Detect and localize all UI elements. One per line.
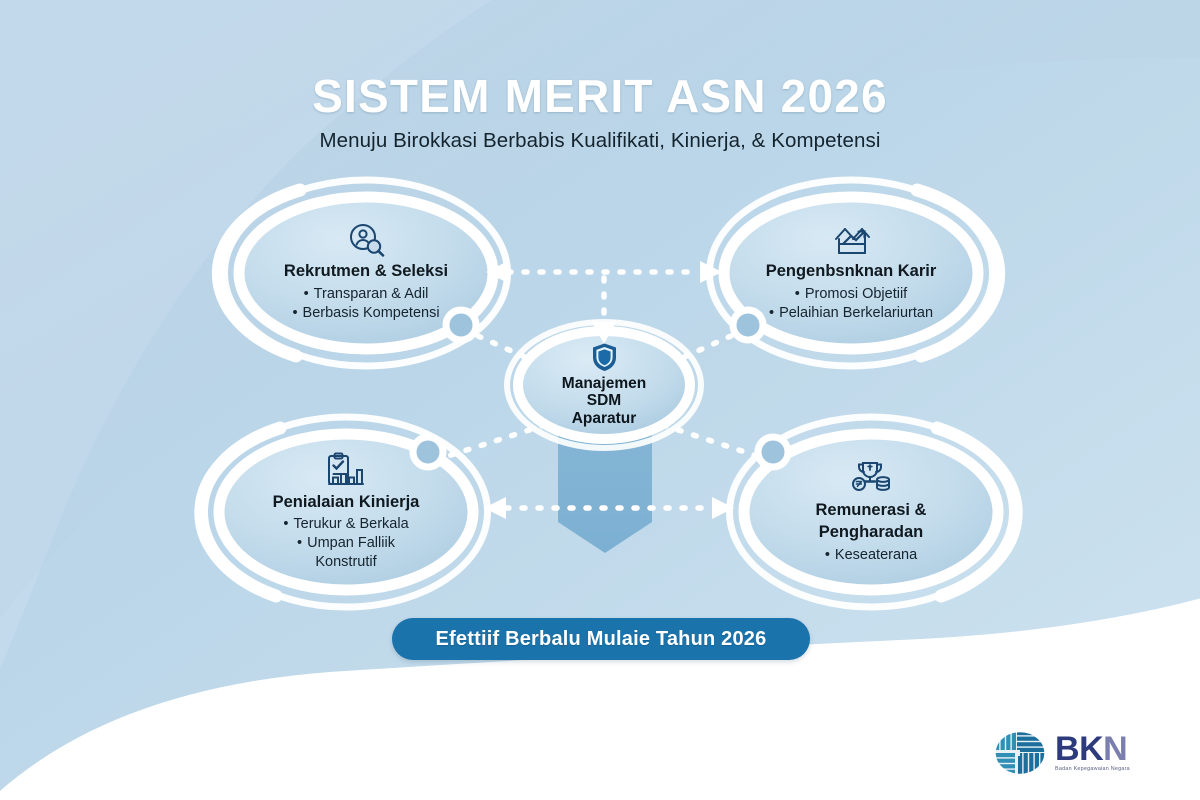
bkn-wordmark: BKN [1055, 733, 1130, 765]
career-growth-icon [831, 223, 871, 257]
clipboard-chart-icon [326, 452, 366, 488]
node-bullet: Promosi Objetiif [769, 285, 933, 304]
node-bullets: Promosi Objetiif Pelaihian Berkelariurta… [769, 285, 933, 323]
node-bullet: Pelaihian Berkelariurtan [769, 304, 933, 323]
node-bullet: Umpan Falliik [283, 534, 408, 553]
banner-label: Efettiif Berbalu Mulaie Tahun 2026 [436, 628, 767, 651]
node-bullet: Transparan & Adil [292, 285, 439, 304]
page-subtitle: Menuju Birokkasi Berbabis Kualifikati, K… [0, 129, 1200, 153]
page-title: SISTEM MERIT ASN 2026 [0, 72, 1200, 120]
node-penilaian-kinerja[interactable]: Penialaian Kinierja Terukur & Berkala Um… [228, 438, 464, 586]
center-hub-manajemen-sdm[interactable]: Manajemen SDM Aparatur [519, 332, 689, 437]
shield-icon [591, 342, 618, 372]
header: SISTEM MERIT ASN 2026 Menuju Birokkasi B… [0, 72, 1200, 153]
hub-line-2: SDM [587, 392, 621, 410]
node-title-line2: Pengharadan [819, 523, 924, 542]
bkn-logo: BKN Badan Kepegawaian Negara [994, 730, 1130, 776]
trophy-coins-icon [849, 460, 893, 496]
node-bullet: Berbasis Kompetensi [292, 304, 439, 323]
node-pengembangan-karir[interactable]: Pengenbsnknan Karir Promosi Objetiif Pel… [733, 204, 969, 342]
bkn-tagline: Badan Kepegawaian Negara [1055, 767, 1130, 772]
node-bullets: Keseaterana [825, 546, 917, 565]
node-bullet: Keseaterana [825, 546, 917, 565]
effective-year-banner[interactable]: Efettiif Berbalu Mulaie Tahun 2026 [392, 618, 810, 660]
bkn-logo-icon [994, 730, 1046, 776]
node-bullet: Terukur & Berkala [283, 515, 408, 534]
hub-line-1: Manajemen [562, 375, 646, 393]
hub-line-3: Aparatur [572, 410, 637, 428]
node-remunerasi-penghargaan[interactable]: Remunerasi & Pengharadan Keseaterana [753, 438, 989, 586]
node-title: Penialaian Kinierja [273, 493, 420, 512]
node-title: Pengenbsnknan Karir [766, 262, 937, 281]
person-search-icon [347, 223, 385, 257]
node-bullets: Transparan & Adil Berbasis Kompetensi [292, 285, 439, 323]
node-bullet: Konstrutif [283, 553, 408, 572]
node-title: Rekrutmen & Seleksi [284, 262, 448, 281]
node-bullets: Terukur & Berkala Umpan Falliik Konstrut… [283, 515, 408, 572]
node-title: Remunerasi & [816, 501, 927, 520]
node-rekrutmen-seleksi[interactable]: Rekrutmen & Seleksi Transparan & Adil Be… [248, 204, 484, 342]
